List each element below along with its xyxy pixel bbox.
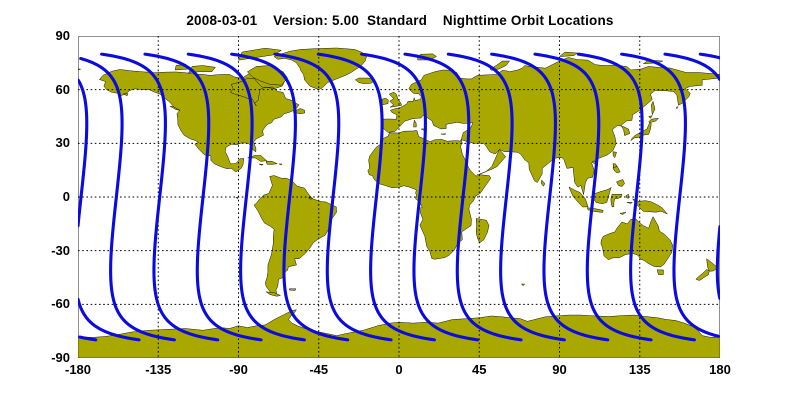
y-tick-label--60: -60 [30, 296, 70, 311]
x-tick-label--180: -180 [48, 362, 108, 377]
orbit-tracks [78, 36, 720, 358]
x-tick-label-180: 180 [690, 362, 750, 377]
figure-title: 2008-03-01 Version: 5.00 Standard Nightt… [0, 13, 800, 28]
orbit-track-15-seg4 [78, 299, 139, 339]
x-tick-label--45: -45 [289, 362, 349, 377]
orbit-track-1 [700, 54, 719, 58]
y-tick-label-60: 60 [30, 82, 70, 97]
plot-area [78, 36, 720, 358]
orbit-map-figure: 2008-03-01 Version: 5.00 Standard Nightt… [0, 0, 800, 400]
orbit-track-14-seg2 [80, 337, 96, 340]
x-tick-label-45: 45 [449, 362, 509, 377]
y-tick-label--30: -30 [30, 243, 70, 258]
x-tick-label--90: -90 [209, 362, 269, 377]
y-tick-label-30: 30 [30, 135, 70, 150]
x-tick-label-0: 0 [369, 362, 429, 377]
y-tick-label-0: 0 [30, 189, 70, 204]
x-tick-label--135: -135 [128, 362, 188, 377]
x-tick-label-135: 135 [610, 362, 670, 377]
orbit-track-15-seg3 [717, 227, 720, 299]
x-tick-label-90: 90 [530, 362, 590, 377]
y-tick-label-90: 90 [30, 28, 70, 43]
orbit-track-15-seg2 [78, 80, 87, 225]
